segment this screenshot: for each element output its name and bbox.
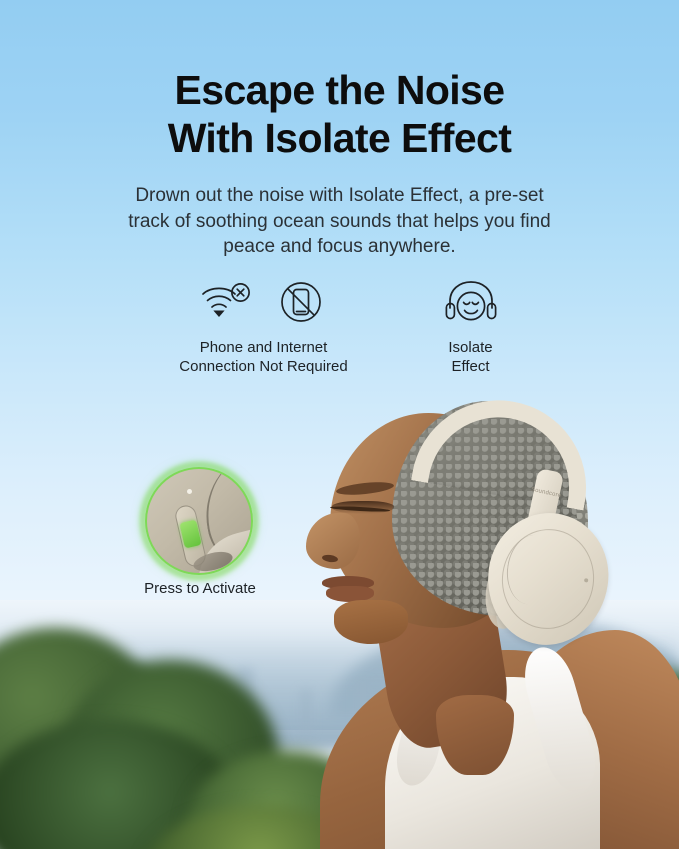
headline-line-1: Escape the Noise	[0, 66, 679, 114]
headline-line-2: With Isolate Effect	[0, 114, 679, 162]
description-line-2: track of soothing ocean sounds that help…	[0, 209, 679, 235]
chin	[334, 600, 408, 644]
feature-no-connection-label: Phone and Internet Connection Not Requir…	[149, 338, 379, 376]
feature-label-line-1: Isolate	[411, 338, 531, 357]
product-feature-poster: Soundcore Escape the Noise With Isolate …	[0, 0, 679, 849]
specular-highlight	[187, 489, 192, 494]
feature-list: Phone and Internet Connection Not Requir…	[0, 276, 679, 376]
callout-circle	[145, 467, 253, 575]
headphones-smiley-icon	[434, 276, 508, 328]
wifi-off-icon	[190, 276, 264, 328]
feature-no-connection: Phone and Internet Connection Not Requir…	[149, 276, 379, 376]
description-line-3: peace and focus anywhere.	[0, 234, 679, 260]
description-line-1: Drown out the noise with Isolate Effect,…	[0, 183, 679, 209]
model-photo: Soundcore	[300, 395, 679, 849]
no-phone-icon	[264, 276, 338, 328]
description-text: Drown out the noise with Isolate Effect,…	[0, 183, 679, 260]
feature-label-line-2: Effect	[411, 357, 531, 376]
feature-isolate-effect-label: Isolate Effect	[411, 338, 531, 376]
page-title: Escape the Noise With Isolate Effect	[0, 66, 679, 162]
feature-isolate-effect: Isolate Effect	[411, 276, 531, 376]
callout-caption: Press to Activate	[85, 580, 315, 597]
feature-label-line-1: Phone and Internet	[149, 338, 379, 357]
button-detail-callout	[140, 462, 258, 580]
feature-label-line-2: Connection Not Required	[149, 357, 379, 376]
